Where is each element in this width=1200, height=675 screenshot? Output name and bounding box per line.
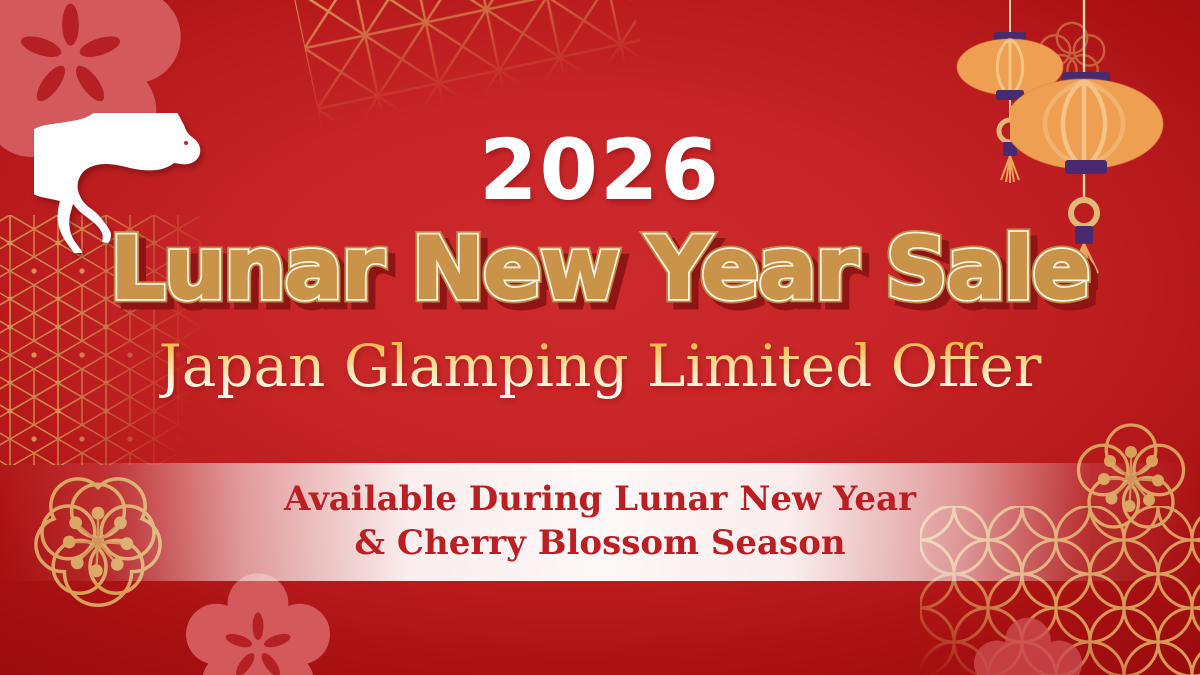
headline-core-layer: Lunar New Year Sale <box>110 226 1089 314</box>
availability-line-1: Available During Lunar New Year <box>284 478 916 522</box>
availability-band: Available During Lunar New Year & Cherry… <box>0 463 1200 581</box>
lunar-new-year-sale-banner: 2026 Lunar New Year Sale Lunar New Year … <box>0 0 1200 675</box>
year-heading: 2026 <box>479 128 721 212</box>
availability-line-2: & Cherry Blossom Season <box>354 522 845 566</box>
sub-headline: Japan Glamping Limited Offer <box>159 332 1042 400</box>
main-headline: Lunar New Year Sale Lunar New Year Sale … <box>110 226 1089 314</box>
